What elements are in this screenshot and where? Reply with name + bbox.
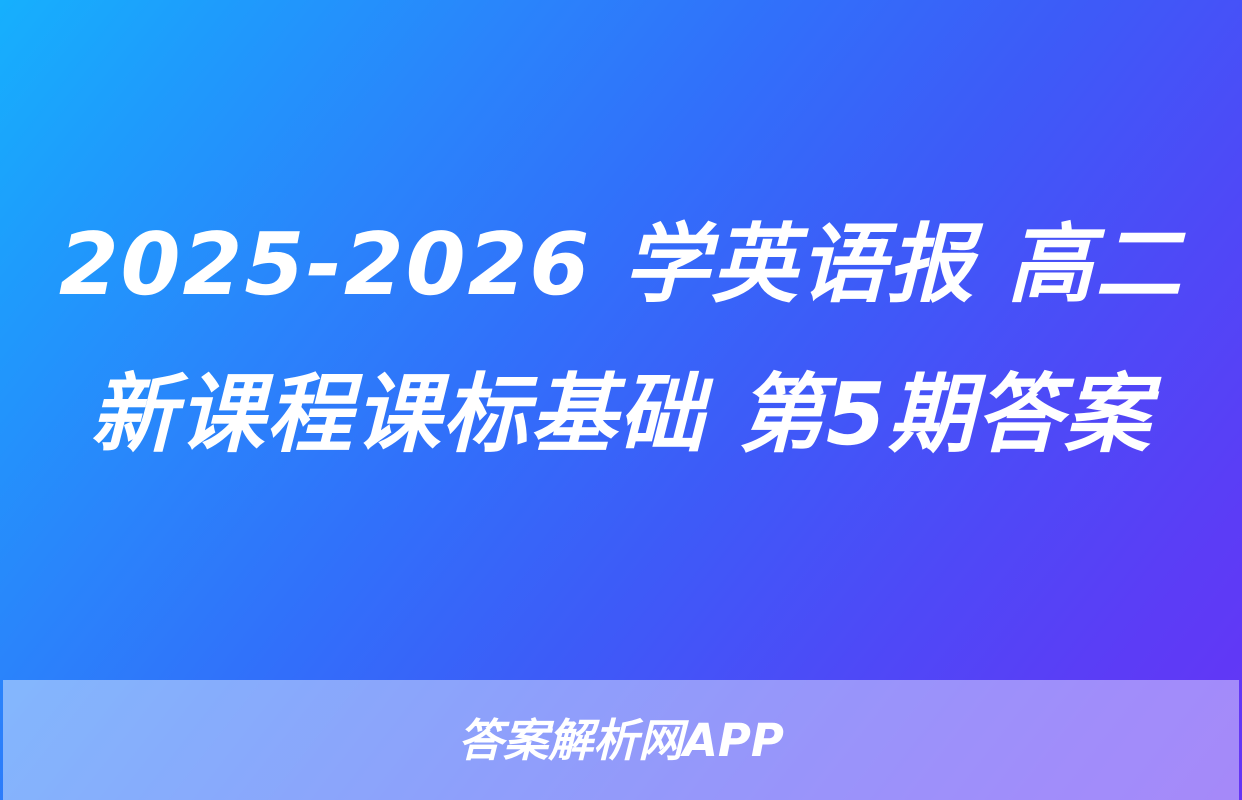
footer-brand-band: 答案解析网APP <box>3 680 1239 800</box>
app-brand-label: 答案解析网APP <box>458 718 784 763</box>
promo-card: 2025-2026 学英语报 高二 新课程课标基础 第5期答案 答案解析网APP <box>0 0 1242 800</box>
page-title: 2025-2026 学英语报 高二 新课程课标基础 第5期答案 <box>56 190 1186 490</box>
title-block: 2025-2026 学英语报 高二 新课程课标基础 第5期答案 <box>0 0 1242 680</box>
